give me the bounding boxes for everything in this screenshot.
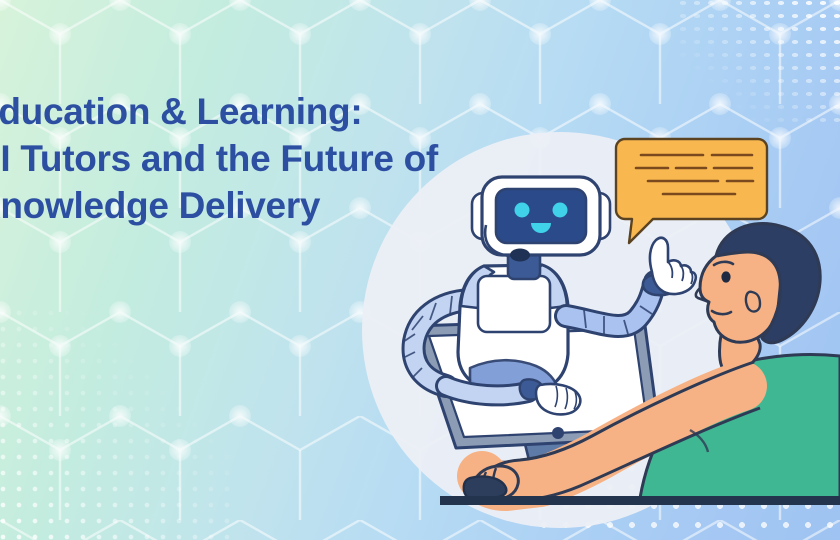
robot-chest-plate [478,276,550,332]
page-title: Education & Learning: AI Tutors and the … [0,88,534,229]
student-ear [746,292,760,312]
computer-mouse [464,476,507,498]
page-title-line-2: AI Tutors and the Future of [0,135,534,182]
hero-banner: Education & Learning: AI Tutors and the … [0,0,840,540]
illustration [0,0,840,540]
page-title-line-3: Knowledge Delivery [0,182,534,229]
robot-eye-right [553,203,568,218]
desk-surface [440,496,840,505]
page-title-line-1: Education & Learning: [0,88,534,135]
laptop-camera [552,427,564,439]
student-eye [721,271,730,282]
robot-left-hand [536,384,580,414]
robot-mic [510,249,530,262]
